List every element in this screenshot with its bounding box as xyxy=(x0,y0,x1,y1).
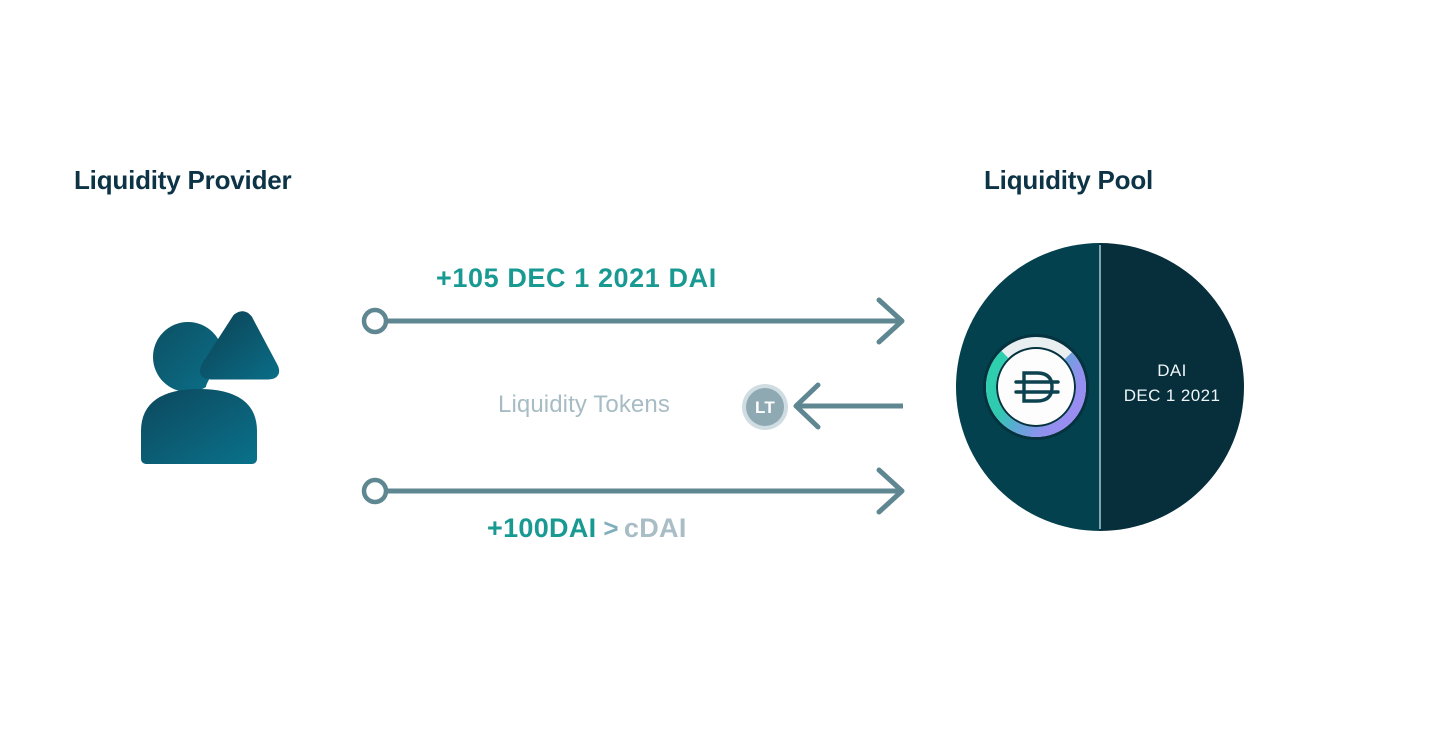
arrow-label-deposit-dai-swap: +100DAI>cDAI xyxy=(487,513,687,544)
liquidity-token-badge: LT xyxy=(742,384,788,430)
arrow-deposit-dai-swap xyxy=(364,470,903,512)
pool-token-maturity: DEC 1 2021 xyxy=(1100,383,1244,408)
arrow-deposit-dated-dai xyxy=(364,300,903,342)
pool-token-name: DAI xyxy=(1100,358,1244,383)
swap-target-label: cDAI xyxy=(624,513,687,543)
swap-amount-label: +100DAI xyxy=(487,513,596,543)
arrow-label-liquidity-tokens: Liquidity Tokens xyxy=(498,391,670,419)
liquidity-provider-heading: Liquidity Provider xyxy=(74,165,291,196)
liquidity-provider-avatar-icon xyxy=(140,305,290,465)
dai-token-icon xyxy=(982,333,1090,441)
arrow-liquidity-tokens-return xyxy=(796,385,903,427)
liquidity-pool-heading: Liquidity Pool xyxy=(984,165,1153,196)
pool-token-label: DAI DEC 1 2021 xyxy=(1100,358,1244,408)
diagram-canvas: Liquidity Provider Liquidity Pool xyxy=(0,0,1434,734)
arrow-label-deposit-dated-dai: +105 DEC 1 2021 DAI xyxy=(436,263,717,294)
swap-caret-icon: > xyxy=(603,513,618,543)
liquidity-token-badge-label: LT xyxy=(755,399,775,416)
liquidity-token-badge-inner: LT xyxy=(746,388,784,426)
liquidity-pool-circle: DAI DEC 1 2021 xyxy=(956,243,1244,531)
